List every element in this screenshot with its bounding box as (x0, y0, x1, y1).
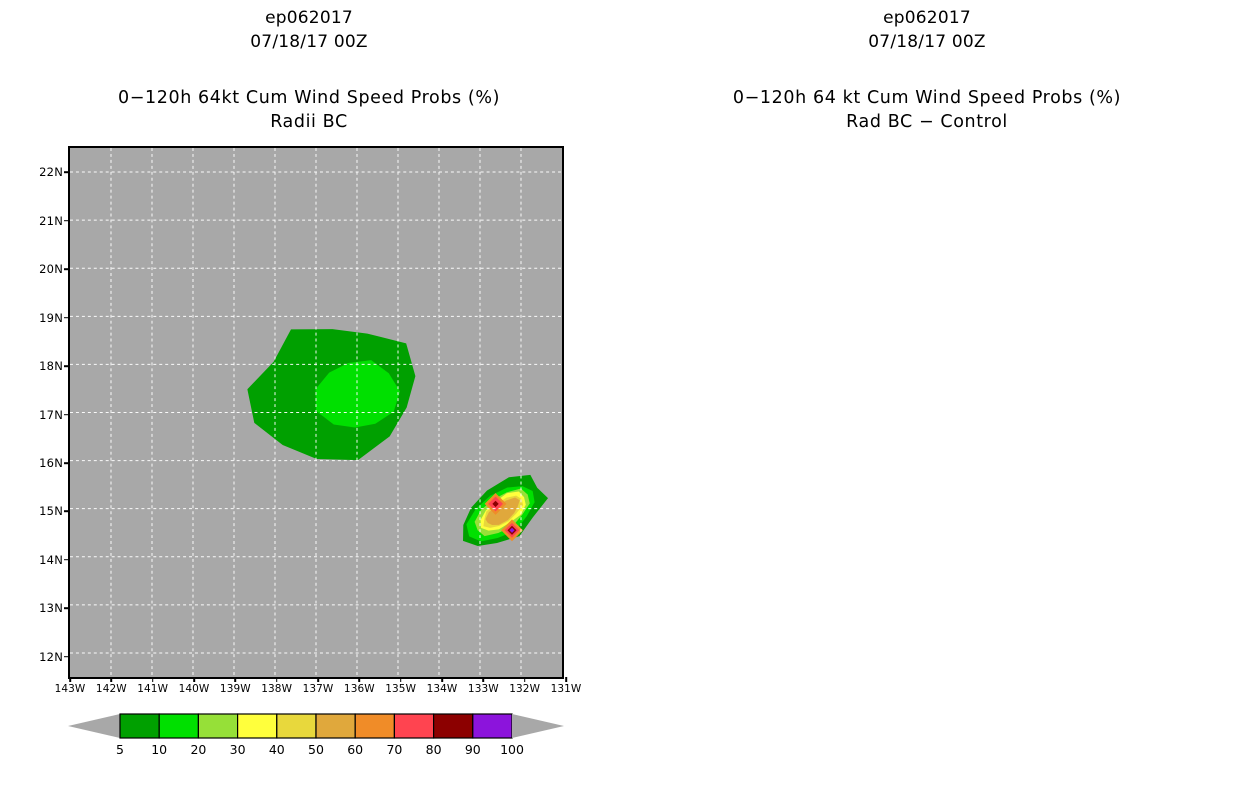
left-xtick-mark (524, 677, 526, 682)
left-xtick-label: 134W (427, 683, 458, 695)
left-ytick-mark (64, 268, 70, 270)
left-xtick-label: 135W (385, 683, 416, 695)
left-ytick-label: 21N (39, 214, 63, 228)
probability-colorbar-over-arrow (512, 714, 564, 738)
left-xtick-label: 131W (551, 683, 582, 695)
left-chart-subtitle: Radii BC (0, 112, 618, 132)
probability-colorbar-tick-label: 60 (347, 742, 363, 757)
left-xtick-mark (235, 677, 237, 682)
probability-colorbar-tick-label: 100 (500, 742, 524, 757)
probability-colorbar-band (316, 714, 355, 738)
left-ytick-mark (64, 317, 70, 319)
left-xtick-label: 132W (509, 683, 540, 695)
left-ytick-label: 19N (39, 311, 63, 325)
left-xtick-label: 142W (96, 683, 127, 695)
probability-colorbar-band (473, 714, 512, 738)
left-ytick-label: 20N (39, 262, 63, 276)
probability-colorbar-band (434, 714, 473, 738)
left-xtick-mark (193, 677, 195, 682)
left-ytick-mark (64, 559, 70, 561)
left-contour-field (70, 148, 562, 677)
probability-colorbar-tick-label: 5 (116, 742, 124, 757)
left-ytick-mark (64, 220, 70, 222)
left-ytick-mark (64, 511, 70, 513)
left-xtick-mark (152, 677, 154, 682)
left-xtick-mark (276, 677, 278, 682)
left-ytick-label: 14N (39, 553, 63, 567)
left-ytick-label: 12N (39, 650, 63, 664)
left-storm-id: ep062017 (0, 8, 618, 28)
left-xtick-mark (400, 677, 402, 682)
left-map-canvas (70, 148, 562, 677)
probability-colorbar-under-arrow (68, 714, 120, 738)
left-map-plot: 12N13N14N15N16N17N18N19N20N21N22N143W142… (68, 146, 564, 679)
probability-colorbar-band (159, 714, 198, 738)
left-xtick-label: 133W (468, 683, 499, 695)
left-ytick-mark (64, 171, 70, 173)
left-ytick-mark (64, 365, 70, 367)
probability-colorbar-band (120, 714, 159, 738)
left-ytick-mark (64, 656, 70, 658)
left-xtick-mark (317, 677, 319, 682)
probability-colorbar-swatches (68, 712, 564, 740)
probability-colorbar-tick-label: 90 (465, 742, 481, 757)
right-storm-id: ep062017 (618, 8, 1236, 28)
left-ytick-mark (64, 608, 70, 610)
left-ytick-mark (64, 414, 70, 416)
left-ytick-label: 15N (39, 504, 63, 518)
probability-colorbar-band (355, 714, 394, 738)
left-xtick-label: 137W (303, 683, 334, 695)
left-xtick-mark (69, 677, 71, 682)
left-xtick-mark (441, 677, 443, 682)
left-ytick-label: 22N (39, 165, 63, 179)
probability-colorbar-band (277, 714, 316, 738)
probability-colorbar-tick-label: 70 (386, 742, 402, 757)
probability-colorbar-tick-label: 10 (151, 742, 167, 757)
probability-colorbar-tick-label: 50 (308, 742, 324, 757)
left-valid-time: 07/18/17 00Z (0, 32, 618, 52)
right-valid-time: 07/18/17 00Z (618, 32, 1236, 52)
left-xtick-label: 141W (137, 683, 168, 695)
left-colorbar: 5102030405060708090100 (68, 712, 564, 772)
left-ytick-mark (64, 462, 70, 464)
left-ytick-label: 13N (39, 601, 63, 615)
left-xtick-label: 136W (344, 683, 375, 695)
right-chart-title: 0−120h 64 kt Cum Wind Speed Probs (%) (618, 88, 1236, 108)
left-xtick-label: 143W (55, 683, 86, 695)
left-xtick-mark (483, 677, 485, 682)
probability-colorbar-band (238, 714, 277, 738)
probability-colorbar-band (394, 714, 433, 738)
left-xtick-label: 140W (179, 683, 210, 695)
probability-colorbar-tick-label: 40 (269, 742, 285, 757)
left-ytick-label: 18N (39, 359, 63, 373)
probability-colorbar-tick-label: 30 (230, 742, 246, 757)
left-xtick-mark (565, 677, 567, 682)
left-xtick-mark (111, 677, 113, 682)
left-ytick-label: 16N (39, 456, 63, 470)
probability-colorbar-band (198, 714, 237, 738)
right-chart-subtitle: Rad BC − Control (618, 112, 1236, 132)
left-xtick-mark (359, 677, 361, 682)
right-panel: ep062017 07/18/17 00Z 0−120h 64 kt Cum W… (618, 0, 1236, 800)
probability-colorbar-tick-label: 20 (190, 742, 206, 757)
left-chart-title: 0−120h 64kt Cum Wind Speed Probs (%) (0, 88, 618, 108)
left-xtick-label: 138W (261, 683, 292, 695)
left-ytick-label: 17N (39, 408, 63, 422)
left-xtick-label: 139W (220, 683, 251, 695)
probability-colorbar-tick-label: 80 (426, 742, 442, 757)
left-panel: ep062017 07/18/17 00Z 0−120h 64kt Cum Wi… (0, 0, 618, 800)
